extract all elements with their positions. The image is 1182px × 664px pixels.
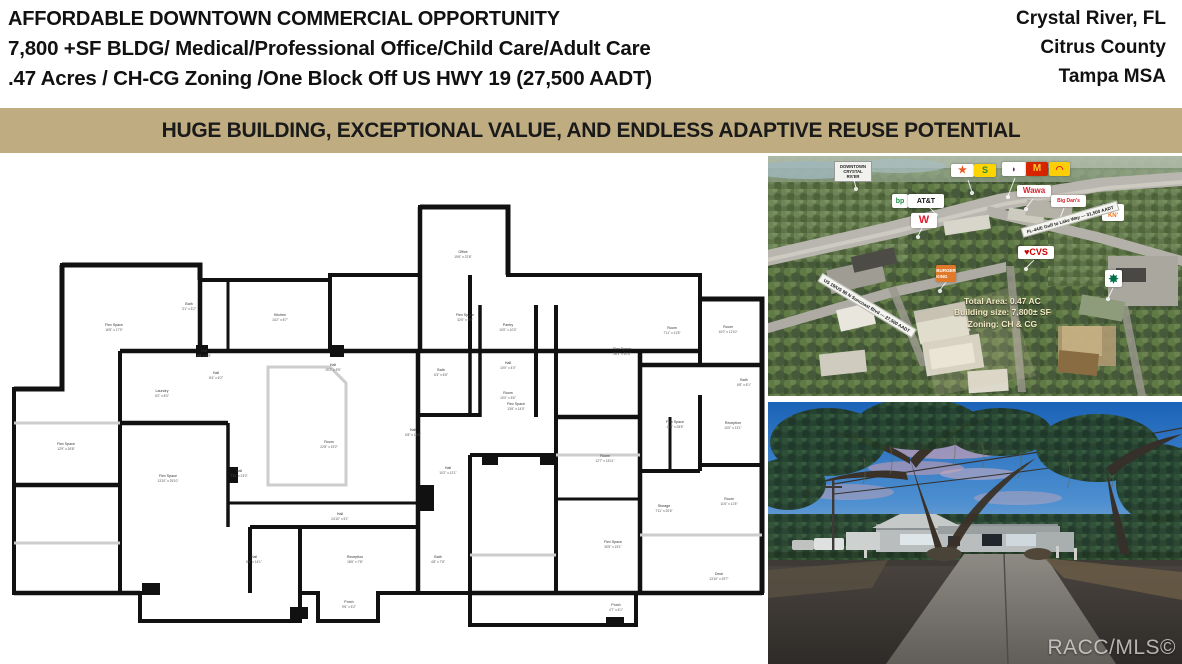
brand-burgerking-icon: BURGERKING	[936, 265, 956, 282]
room-dimensions: 4'7" x 6'1"	[609, 608, 623, 612]
room-dimensions: 5'2" x 8'0"	[155, 394, 169, 398]
location-county: Citrus County	[866, 33, 1166, 62]
room-dimensions: 16'5" x 17'0"	[105, 328, 122, 332]
location-msa: Tampa MSA	[866, 62, 1166, 91]
room-name: Storage	[658, 504, 671, 508]
room-name: Laundry	[156, 389, 169, 393]
brand-shell-icon: ◠	[1049, 162, 1070, 176]
poi-downtown-crystal-river: DOWNTOWNCRYSTAL RIVER	[834, 161, 872, 182]
room-name: Bath	[740, 378, 747, 382]
brand-tacobell-icon: ◗	[1002, 162, 1026, 176]
room-name: Reception	[347, 555, 363, 559]
room-dimensions: 32'5" x 9'0"	[457, 318, 473, 322]
room-name: Hall	[505, 361, 511, 365]
brand-bigdans-icon: Big Dan's	[1051, 195, 1086, 207]
room-dimensions: 6'8" x 8'1"	[737, 383, 751, 387]
room-name: Hall	[330, 363, 336, 367]
brand-bp-icon: bp	[892, 194, 908, 208]
room-name: Flex Space	[159, 474, 177, 478]
room-name: Pantry	[503, 323, 514, 327]
tagline-text: HUGE BUILDING, EXCEPTIONAL VALUE, AND EN…	[162, 119, 1021, 143]
room-label: Flex Space28'1" x 20'4"	[613, 347, 631, 356]
room-name: Hall	[410, 428, 416, 432]
room-name: Hall	[445, 466, 451, 470]
header-left-column: AFFORDABLE DOWNTOWN COMMERCIAL OPPORTUNI…	[8, 4, 908, 94]
room-dimensions: 13'6" x 14'0"	[507, 407, 524, 411]
room-label: Storage7'11" x 20'6"	[655, 504, 672, 513]
room-dimensions: 6'8" x 15'8"	[405, 433, 421, 437]
room-label: Flex Space32'5" x 9'0"	[456, 313, 474, 322]
room-name: Porch	[611, 603, 620, 607]
room-label: Flex Space30'5" x 15'1"	[604, 540, 622, 549]
room-dimensions: 12'9" x 26'8"	[57, 447, 74, 451]
header: AFFORDABLE DOWNTOWN COMMERCIAL OPPORTUNI…	[0, 0, 1182, 108]
room-label: Reception18'6" x 7'8"	[347, 555, 363, 564]
room-name: Room	[600, 454, 610, 458]
floorplan-drawing: Flex Space16'5" x 17'0"Bath3'1" x 5'2"Ha…	[0, 155, 766, 664]
room-name: Hall	[213, 371, 219, 375]
room-dimensions: 7'11" x 20'6"	[655, 509, 672, 513]
room-name: Room	[324, 440, 334, 444]
room-name: Hall	[201, 349, 207, 353]
room-name: Hall	[251, 555, 257, 559]
room-dimensions: 9'6" x 5'2"	[342, 605, 356, 609]
room-name: Flex Space	[57, 442, 75, 446]
room-dimensions: 14'2" x 8'7"	[272, 318, 288, 322]
room-dimensions: 6'8" x 5'9"	[197, 354, 211, 358]
headline-tertiary: .47 Acres / CH-CG Zoning /One Block Off …	[8, 64, 908, 94]
brand-cvs-icon: ♥CVS	[1018, 246, 1054, 259]
room-dimensions: 3'1" x 5'2"	[182, 307, 196, 311]
room-name: Reception	[725, 421, 741, 425]
room-label: Flex Space13'10" x 25'10"	[157, 474, 178, 483]
room-label: Reception10'0" x 13'1"	[724, 421, 741, 430]
tagline-banner: HUGE BUILDING, EXCEPTIONAL VALUE, AND EN…	[0, 108, 1182, 153]
room-label: Flex Space11'8" x 28'8"	[666, 420, 684, 429]
room-dimensions: 10'0" x 4'0"	[500, 366, 516, 370]
site-zoning: Zoning: CH & CG	[954, 319, 1051, 330]
room-dimensions: 10'0" x 10'0"	[499, 328, 516, 332]
aerial-photo: DOWNTOWNCRYSTAL RIVER ★ S ◗ M ◠ Wawa bp	[768, 156, 1182, 396]
header-right-column: Crystal River, FL Citrus County Tampa MS…	[866, 4, 1166, 91]
room-name: Room	[667, 326, 677, 330]
room-dimensions: 30'5" x 15'1"	[604, 545, 621, 549]
brand-att-icon: AT&T	[908, 194, 944, 208]
room-name: Flex Space	[604, 540, 622, 544]
room-name: Room	[724, 497, 734, 501]
brand-walgreens-icon: W	[911, 213, 937, 228]
brand-subway-icon: S	[974, 164, 996, 177]
room-name: Bath	[185, 302, 192, 306]
brand-hardees-icon: ★	[951, 164, 974, 177]
room-label: Flex Space16'5" x 17'0"	[105, 323, 123, 332]
room-dimensions: 28'1" x 20'4"	[613, 352, 630, 356]
room-dimensions: 12'7" x 15'11"	[595, 459, 614, 463]
room-name: Flex Space	[105, 323, 123, 327]
room-name: Flex Space	[456, 313, 474, 317]
site-annotation: Total Area: 0.47 AC Building size: 7,800…	[954, 296, 1051, 330]
room-dimensions: 6'3" x 6'6"	[434, 373, 448, 377]
room-name: Flex Space	[613, 347, 631, 351]
room-dimensions: 13'10" x 25'10"	[157, 479, 178, 483]
room-name: Hall	[236, 469, 242, 473]
property-photo-image	[768, 402, 1182, 664]
room-dimensions: 22'8" x 19'2"	[320, 445, 337, 449]
room-label: Flex Space12'9" x 26'8"	[57, 442, 75, 451]
room-name: Hall	[337, 512, 343, 516]
site-building-size: Building size: 7,800± SF	[954, 307, 1051, 318]
headline-primary: AFFORDABLE DOWNTOWN COMMERCIAL OPPORTUNI…	[8, 4, 908, 34]
room-name: Kitchen	[274, 313, 286, 317]
room-dimensions: 19'6" x 22'8"	[454, 255, 471, 259]
room-label: Laundry5'2" x 8'0"	[155, 389, 169, 398]
room-label: Flex Space13'6" x 14'0"	[507, 402, 525, 411]
room-label: Kitchen14'2" x 8'7"	[272, 313, 288, 322]
room-dimensions: 4'8" x 7'8"	[431, 560, 445, 564]
room-name: Office	[458, 250, 467, 254]
brand-starbucks-icon: ✸	[1105, 270, 1122, 287]
room-dimensions: 11'6" x 11'5"	[720, 502, 737, 506]
room-dimensions: 10'0" x 5'6"	[500, 396, 516, 400]
brand-wawa-icon: Wawa	[1017, 185, 1051, 197]
room-dimensions: 8'4" x 6'2"	[209, 376, 223, 380]
room-dimensions: 7'11" x 11'8"	[663, 331, 680, 335]
property-photo: RACC/MLS©	[768, 402, 1182, 664]
room-dimensions: 7'11" x 23'0"	[230, 474, 247, 478]
room-dimensions: 10'0" x 11'10"	[718, 330, 737, 334]
room-dimensions: 8'8" x 14'1"	[246, 560, 262, 564]
room-name: Bath	[437, 368, 444, 372]
room-name: Flex Space	[666, 420, 684, 424]
room-name: Deck	[715, 572, 723, 576]
room-name: Bath	[434, 555, 441, 559]
room-dimensions: 10'0" x 13'1"	[724, 426, 741, 430]
room-dimensions: 24'10" x 5'1"	[331, 517, 348, 521]
location-city: Crystal River, FL	[866, 4, 1166, 33]
room-name: Room	[503, 391, 513, 395]
room-dimensions: 19'2" x 5'5"	[325, 368, 341, 372]
room-name: Flex Space	[507, 402, 525, 406]
headline-secondary: 7,800 +SF BLDG/ Medical/Professional Off…	[8, 34, 908, 64]
floorplan-panel: Flex Space16'5" x 17'0"Bath3'1" x 5'2"Ha…	[0, 155, 766, 664]
room-dimensions: 10'2" x 12'1"	[439, 471, 456, 475]
site-total-area: Total Area: 0.47 AC	[954, 296, 1051, 307]
room-dimensions: 18'6" x 7'8"	[347, 560, 363, 564]
room-dimensions: 13'10" x 29'7"	[709, 577, 728, 581]
room-name: Porch	[344, 600, 353, 604]
room-name: Room	[723, 325, 733, 329]
flyer-page: AFFORDABLE DOWNTOWN COMMERCIAL OPPORTUNI…	[0, 0, 1182, 664]
brand-mcdonalds-icon: M	[1026, 162, 1048, 176]
room-dimensions: 11'8" x 28'8"	[666, 425, 683, 429]
